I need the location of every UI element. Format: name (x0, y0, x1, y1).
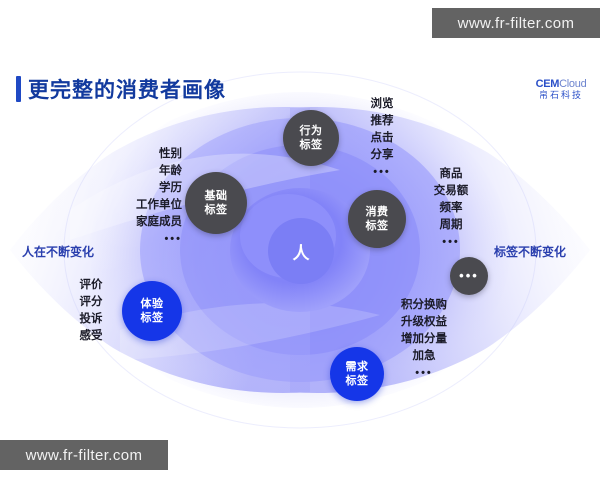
label-item: 投诉 (68, 311, 114, 328)
page-title: 更完整的消费者画像 (28, 74, 226, 104)
label-item: 商品 (420, 166, 482, 183)
bubble-demand-tag[interactable]: 需求 标签 (330, 347, 384, 401)
label-item: 点击 (355, 130, 409, 147)
label-item: 加急 (386, 348, 462, 365)
label-group-experience: 评价 评分 投诉 感受 (68, 277, 114, 345)
bubble-label-line1: 体验 (141, 297, 164, 311)
watermark-bottom: www.fr-filter.com (0, 440, 168, 470)
logo-subtitle: 帛石科技 (532, 90, 590, 101)
watermark-top: www.fr-filter.com (432, 8, 600, 38)
bubble-label-line1: 需求 (346, 360, 369, 374)
bubble-label-line2: 标签 (366, 219, 389, 233)
label-item: 推荐 (355, 113, 409, 130)
bubble-experience-tag[interactable]: 体验 标签 (122, 281, 182, 341)
label-more: ••• (100, 231, 182, 248)
bubble-basic-tag[interactable]: 基础 标签 (185, 172, 247, 234)
logo-brand: CEM (536, 78, 560, 90)
label-item: 频率 (420, 200, 482, 217)
bubble-more-tag[interactable]: ••• (450, 257, 488, 295)
infographic-canvas: 更完整的消费者画像 CEMCloud 帛石科技 人 行为 标签 基础 标签 消费… (0, 0, 600, 480)
label-item: 感受 (68, 328, 114, 345)
label-item: 工作单位 (100, 197, 182, 214)
label-item: 增加分量 (386, 331, 462, 348)
label-more: ••• (386, 365, 462, 382)
center-person-label: 人 (293, 239, 310, 264)
logo-suffix: Cloud (559, 78, 586, 90)
tagline-right: 标签不断变化 (494, 243, 566, 260)
label-item: 浏览 (355, 96, 409, 113)
label-item: 升级权益 (386, 314, 462, 331)
bubble-label-line2: 标签 (346, 374, 369, 388)
title-accent-bar (16, 76, 21, 102)
label-item: 评价 (68, 277, 114, 294)
label-item: 性别 (100, 146, 182, 163)
tagline-left: 人在不断变化 (22, 243, 94, 260)
bubble-label-line1: 消费 (366, 205, 389, 219)
label-item: 分享 (355, 147, 409, 164)
bubble-behavior-tag[interactable]: 行为 标签 (283, 110, 339, 166)
label-item: 学历 (100, 180, 182, 197)
bubble-consumption-tag[interactable]: 消费 标签 (348, 190, 406, 248)
label-item: 年龄 (100, 163, 182, 180)
label-item: 交易额 (420, 183, 482, 200)
bubble-label-line2: 标签 (300, 138, 323, 152)
label-group-behavior: 浏览 推荐 点击 分享 ••• (355, 96, 409, 181)
center-person-circle: 人 (268, 218, 334, 284)
label-item: 评分 (68, 294, 114, 311)
label-item: 家庭成员 (100, 214, 182, 231)
label-more: ••• (355, 164, 409, 181)
bubble-label-line1: ••• (459, 269, 479, 283)
bubble-label-line1: 行为 (300, 124, 323, 138)
bubble-label-line2: 标签 (141, 311, 164, 325)
brand-logo: CEMCloud 帛石科技 (532, 78, 590, 104)
label-more: ••• (420, 234, 482, 251)
label-item: 积分换购 (386, 297, 462, 314)
label-group-basic: 性别 年龄 学历 工作单位 家庭成员 ••• (100, 146, 182, 248)
bubble-label-line1: 基础 (205, 189, 228, 203)
label-item: 周期 (420, 217, 482, 234)
label-group-demand: 积分换购 升级权益 增加分量 加急 ••• (386, 297, 462, 382)
logo-wordmark: CEMCloud (532, 78, 590, 90)
label-group-consumption: 商品 交易额 频率 周期 ••• (420, 166, 482, 251)
bubble-label-line2: 标签 (205, 203, 228, 217)
